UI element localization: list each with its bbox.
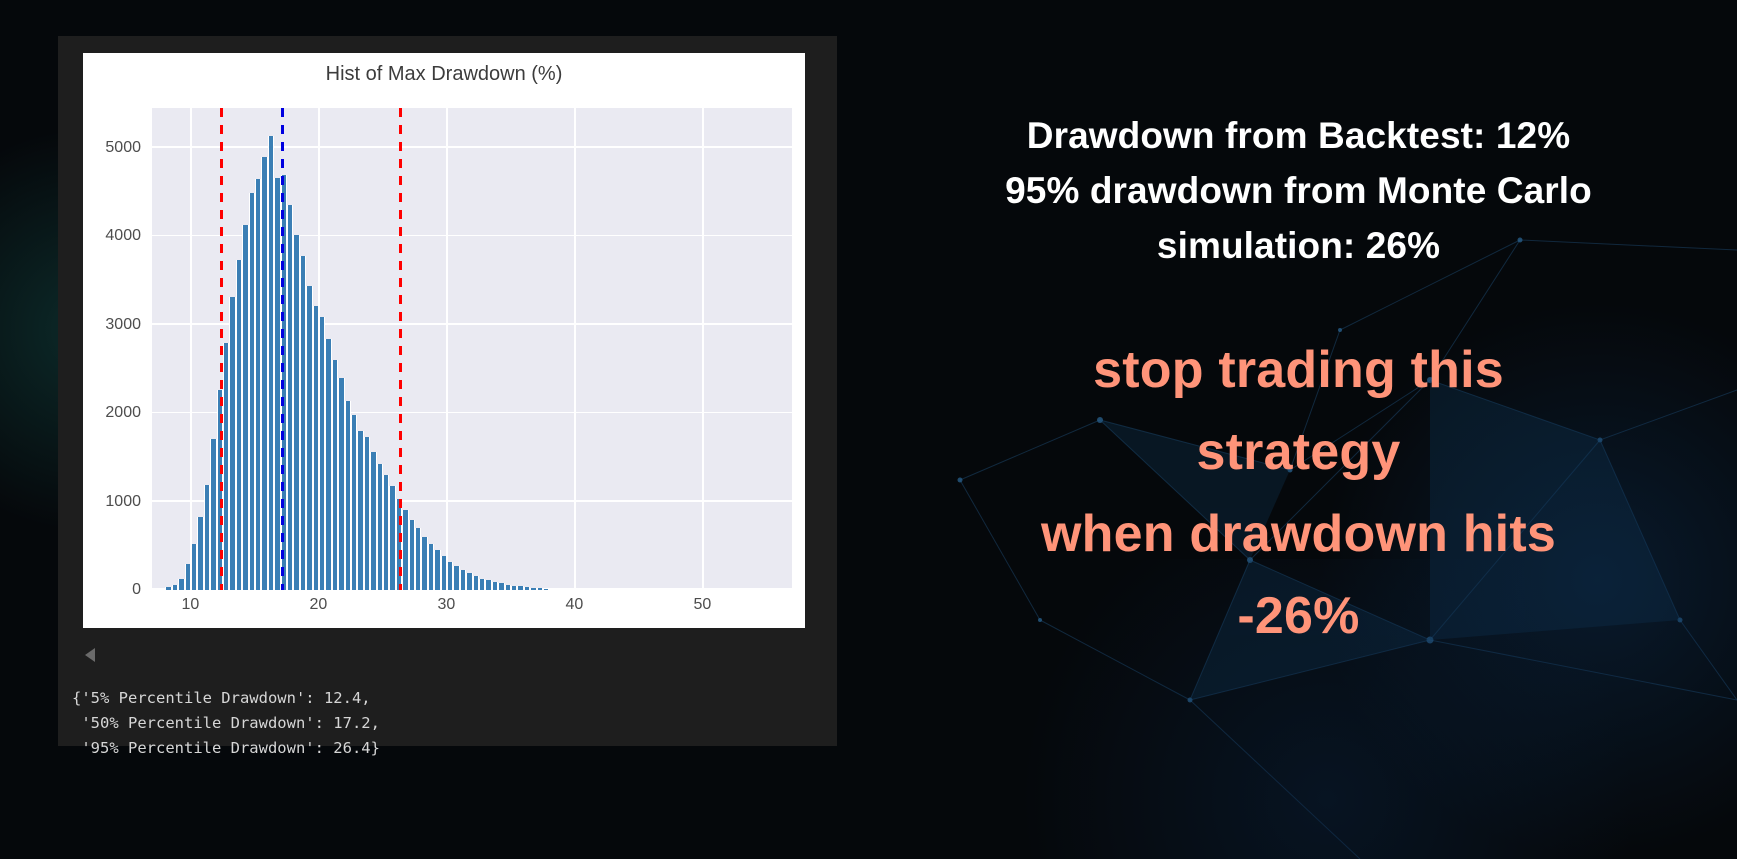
headline-text-block: Drawdown from Backtest: 12%95% drawdown … <box>939 108 1659 273</box>
chart-figure-card: Hist of Max Drawdown (%) 010002000300040… <box>83 53 805 628</box>
x-axis-tick-label: 20 <box>309 596 327 614</box>
callout-text-block: stop trading thisstrategywhen drawdown h… <box>919 329 1679 657</box>
x-axis-tick-label: 40 <box>565 596 583 614</box>
callout-line: stop trading this <box>919 329 1679 411</box>
x-axis-tick-labels: 1020304050 <box>152 596 792 626</box>
callout-line: strategy <box>919 411 1679 493</box>
y-axis-tick-label: 4000 <box>77 227 141 245</box>
headline-line: simulation: 26% <box>939 218 1659 273</box>
x-axis-tick-label: 10 <box>181 596 199 614</box>
y-axis-tick-label: 3000 <box>77 316 141 334</box>
collapse-output-caret-icon[interactable] <box>85 648 95 662</box>
notebook-output-panel: Hist of Max Drawdown (%) 010002000300040… <box>58 36 837 746</box>
cell-text-output: {'5% Percentile Drawdown': 12.4, '50% Pe… <box>72 686 822 761</box>
headline-line: 95% drawdown from Monte Carlo <box>939 163 1659 218</box>
y-axis-tick-label: 5000 <box>77 139 141 157</box>
right-text-column: Drawdown from Backtest: 12%95% drawdown … <box>860 0 1737 859</box>
x-axis-tick-label: 30 <box>437 596 455 614</box>
x-axis-tick-label: 50 <box>693 596 711 614</box>
headline-line: Drawdown from Backtest: 12% <box>939 108 1659 163</box>
callout-line: -26% <box>919 575 1679 657</box>
y-axis-tick-label: 2000 <box>77 404 141 422</box>
callout-line: when drawdown hits <box>919 493 1679 575</box>
y-axis-tick-label: 0 <box>77 581 141 599</box>
y-axis-tick-label: 1000 <box>77 493 141 511</box>
y-axis-tick-labels: 010002000300040005000 <box>83 53 805 628</box>
